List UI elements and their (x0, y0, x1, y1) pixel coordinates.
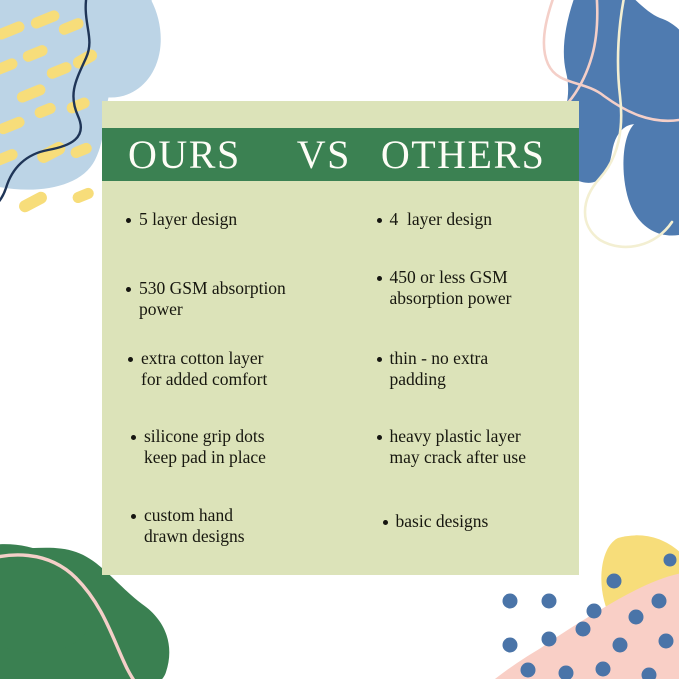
title-bar: OURS VS OTHERS (102, 128, 579, 181)
column-others: 4 layer design 450 or less GSM absorptio… (341, 193, 580, 575)
list-item: extra cotton layer for added comfort (128, 348, 267, 390)
bullet-dot-icon (131, 435, 136, 440)
list-item-label: 450 or less GSM absorption power (390, 267, 512, 309)
bullet-dot-icon (131, 514, 136, 519)
comparison-columns: 5 layer design 530 GSM absorption power … (102, 193, 579, 575)
navy-wavy-line-icon (0, 0, 89, 214)
dark-green-blob-lobe-icon (0, 544, 93, 653)
bullet-dot-icon (128, 357, 133, 362)
cream-curve-line-icon (585, 0, 672, 247)
bullet-dot-icon (126, 218, 131, 223)
list-item-label: custom hand drawn designs (144, 505, 245, 547)
header-others: OTHERS (381, 135, 546, 175)
bullet-dot-icon (377, 435, 382, 440)
medium-blue-blob-lobe-icon (623, 118, 679, 236)
bullet-dot-icon (126, 287, 131, 292)
list-item: 530 GSM absorption power (126, 278, 286, 320)
list-item-label: basic designs (396, 511, 489, 532)
list-item-label: 530 GSM absorption power (139, 278, 286, 320)
pink-blob-extension-icon (470, 572, 679, 679)
bullet-dot-icon (377, 218, 382, 223)
comparison-poster: OURS VS OTHERS 5 layer design 530 GSM ab… (0, 0, 679, 679)
list-item: thin - no extra padding (377, 348, 489, 390)
list-item: 4 layer design (377, 209, 493, 230)
yellow-blob-icon (601, 535, 679, 647)
light-blue-blob-tail-icon (71, 0, 161, 98)
list-item-label: 5 layer design (139, 209, 237, 230)
list-item: silicone grip dots keep pad in place (131, 426, 266, 468)
yellow-dash-group-icon (0, 9, 99, 215)
list-item-label: extra cotton layer for added comfort (141, 348, 267, 390)
list-item: basic designs (383, 511, 489, 532)
header-ours: OURS (128, 135, 241, 175)
list-item: heavy plastic layer may crack after use (377, 426, 527, 468)
bullet-dot-icon (377, 276, 382, 281)
column-ours: 5 layer design 530 GSM absorption power … (102, 193, 341, 575)
list-item: 450 or less GSM absorption power (377, 267, 512, 309)
list-item-label: thin - no extra padding (390, 348, 489, 390)
comparison-card: OURS VS OTHERS 5 layer design 530 GSM ab… (102, 101, 579, 575)
list-item-label: 4 layer design (390, 209, 493, 230)
header-vs: VS (297, 135, 351, 175)
list-item-label: silicone grip dots keep pad in place (144, 426, 266, 468)
list-item: custom hand drawn designs (131, 505, 245, 547)
list-item: 5 layer design (126, 209, 237, 230)
bullet-dot-icon (383, 520, 388, 525)
list-item-label: heavy plastic layer may crack after use (390, 426, 527, 468)
bullet-dot-icon (377, 357, 382, 362)
